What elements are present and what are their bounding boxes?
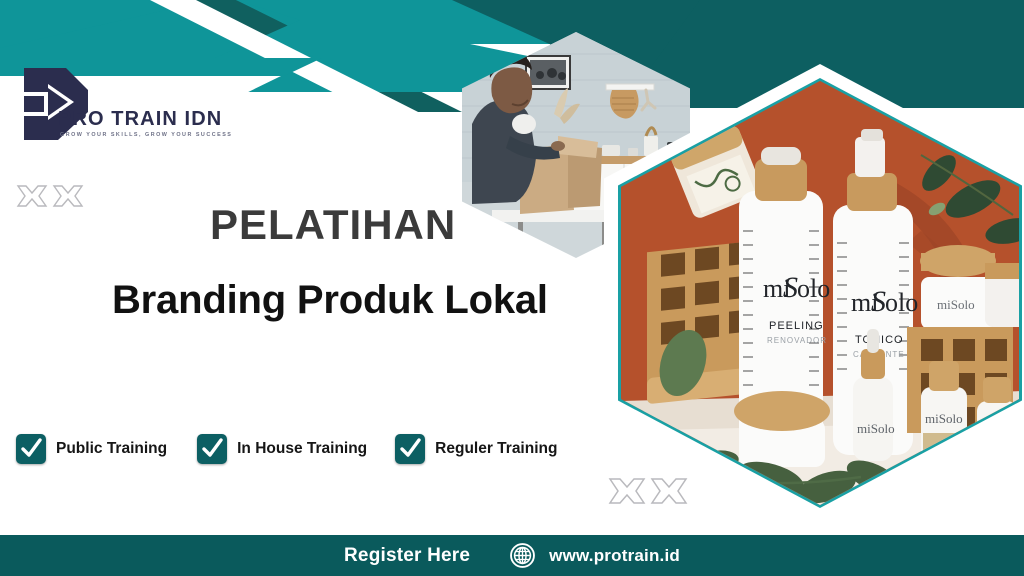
checkbox-checked-icon[interactable] [16,434,46,464]
website-url[interactable]: www.protrain.id [549,546,680,566]
kicker-text: PELATIHAN [210,201,456,249]
x-mark-outline-icon [606,474,690,514]
svg-text:S: S [783,271,798,304]
training-option-public[interactable]: Public Training [16,434,167,464]
check-icon [200,437,224,461]
svg-text:S: S [871,285,886,318]
training-option-label: In House Training [237,440,367,458]
globe-icon [510,543,535,568]
page-title: Branding Produk Lokal [112,278,548,323]
x-mark-outline-icon [14,182,86,216]
svg-text:PEELING: PEELING [769,320,824,332]
logo-tagline: GROW YOUR SKILLS, GROW YOUR SUCCESS [60,132,232,138]
training-option-label: Reguler Training [435,440,557,458]
brand-logo[interactable]: PRO TRAIN IDN GROW YOUR SKILLS, GROW YOU… [14,62,224,162]
check-icon [19,437,43,461]
svg-text:olo: olo [885,288,918,317]
svg-text:miSolo: miSolo [925,411,963,426]
footer-bar: Register Here www.protrain.id [0,535,1024,576]
training-option-inhouse[interactable]: In House Training [197,434,367,464]
training-options-row: Public Training In House Training Regule… [16,434,557,464]
svg-text:RENOVADOR: RENOVADOR [767,336,827,345]
poster-canvas: mi S olo PEELING RENOVADOR [0,0,1024,576]
check-icon [398,437,422,461]
logo-wordmark: PRO TRAIN IDN [58,108,222,131]
checkbox-checked-icon[interactable] [395,434,425,464]
training-option-label: Public Training [56,440,167,458]
training-option-reguler[interactable]: Reguler Training [395,434,557,464]
svg-text:TONICO: TONICO [855,334,904,346]
checkbox-checked-icon[interactable] [197,434,227,464]
svg-text:olo: olo [797,274,830,303]
svg-text:miSolo: miSolo [937,297,975,312]
svg-text:miSolo: miSolo [857,421,895,436]
register-here-label[interactable]: Register Here [344,545,470,567]
